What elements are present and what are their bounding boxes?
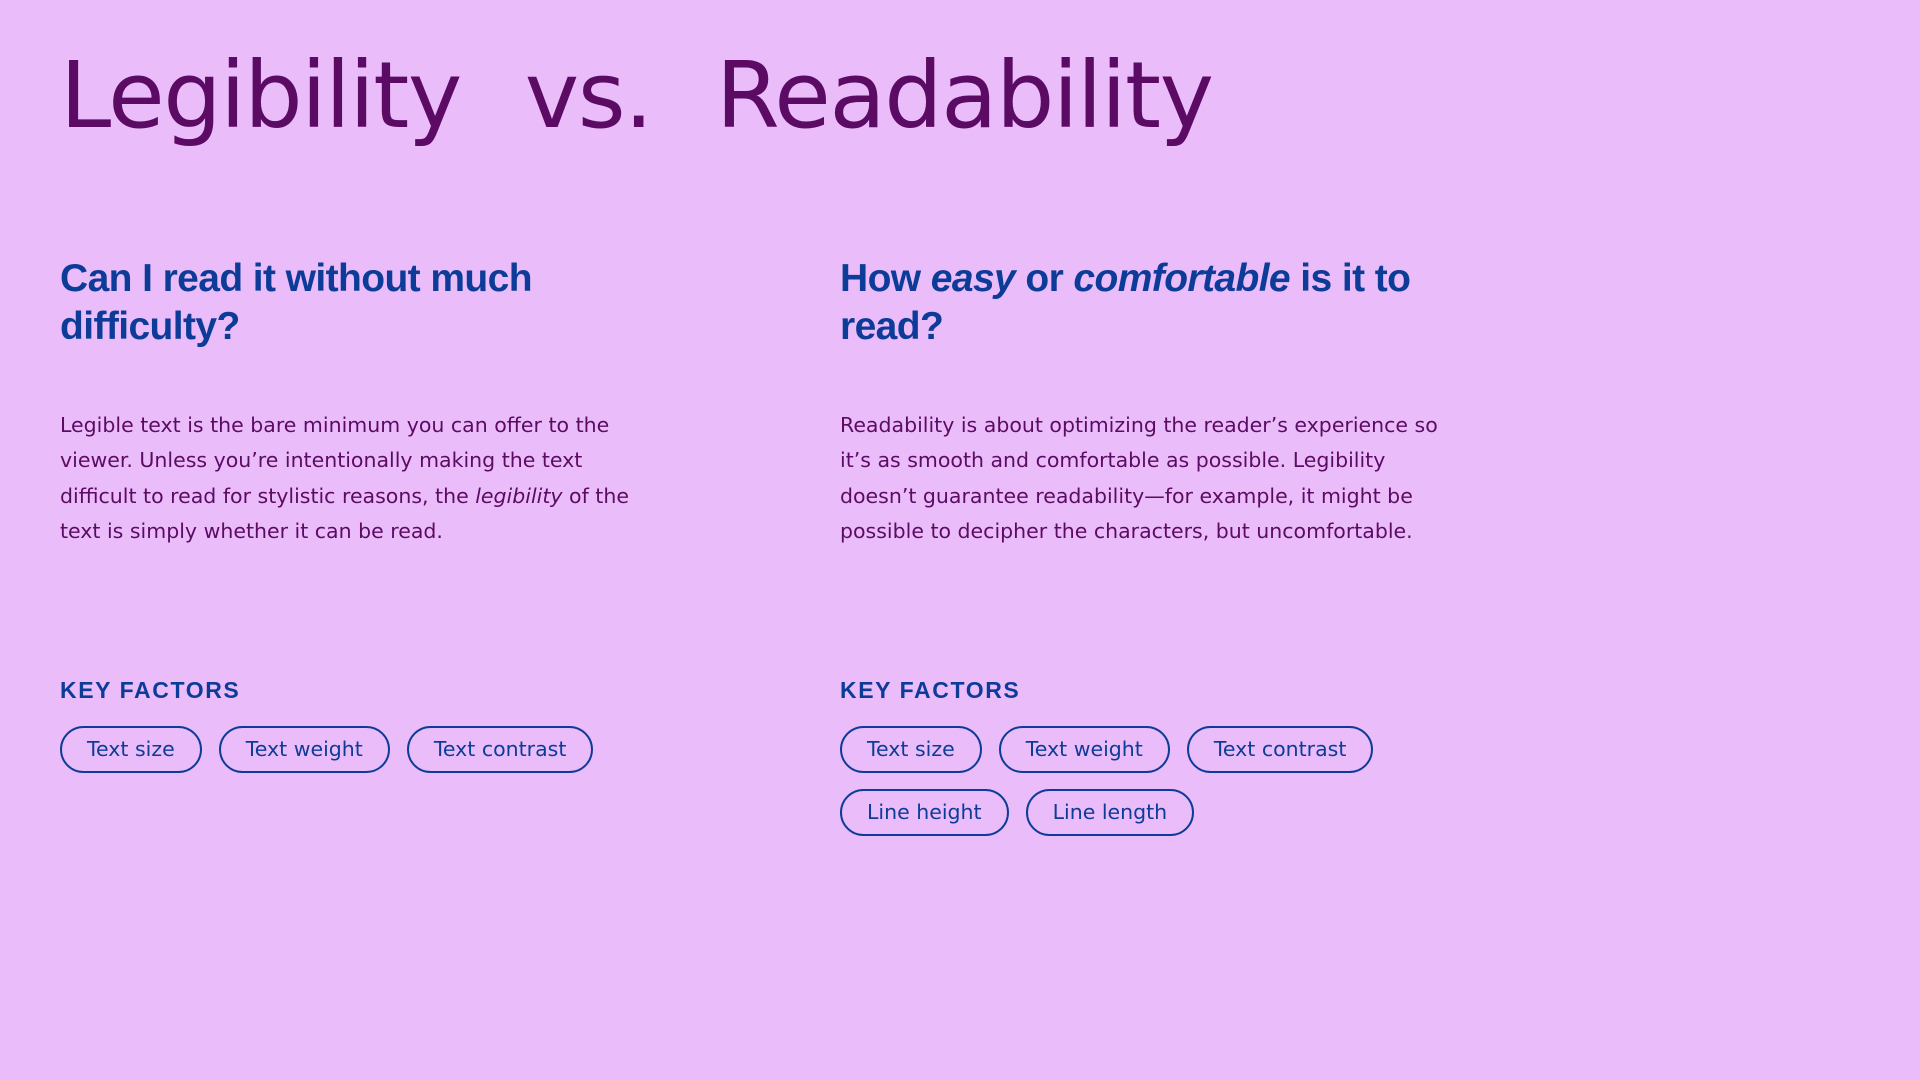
chip-line-length[interactable]: Line length: [1026, 789, 1195, 836]
title-right-term: Readability: [716, 46, 1213, 145]
chip-text-size[interactable]: Text size: [60, 726, 202, 773]
column-legibility: Can I read it without much difficulty? L…: [60, 255, 696, 836]
chip-text-weight[interactable]: Text weight: [219, 726, 390, 773]
readability-question-mid: or: [1015, 257, 1073, 300]
title-separator: vs.: [525, 46, 652, 145]
legibility-description-emphasis: legibility: [475, 484, 562, 508]
legibility-question-line1: Can I read it without: [60, 257, 420, 300]
readability-key-factors-list: Text size Text weight Text contrast Line…: [840, 726, 1440, 836]
column-readability: How easy or comfortable is it to read? R…: [840, 255, 1860, 836]
readability-description: Readability is about optimizing the read…: [840, 408, 1465, 549]
legibility-question: Can I read it without much difficulty?: [60, 255, 680, 350]
chip-line-height[interactable]: Line height: [840, 789, 1009, 836]
legibility-key-factors-list: Text size Text weight Text contrast: [60, 726, 680, 773]
chip-text-contrast[interactable]: Text contrast: [1187, 726, 1374, 773]
readability-question-lead: How: [840, 257, 931, 300]
chip-text-size[interactable]: Text size: [840, 726, 982, 773]
readability-question-emphasis-comfortable: comfortable: [1073, 257, 1290, 300]
chip-text-weight[interactable]: Text weight: [999, 726, 1170, 773]
chip-text-contrast[interactable]: Text contrast: [407, 726, 594, 773]
readability-question-emphasis-easy: easy: [931, 257, 1015, 300]
legibility-description: Legible text is the bare minimum you can…: [60, 408, 660, 549]
slide-root: Legibility vs. Readability Can I read it…: [0, 0, 1920, 1080]
comparison-columns: Can I read it without much difficulty? L…: [60, 255, 1860, 836]
readability-question: How easy or comfortable is it to read?: [840, 255, 1460, 350]
page-title: Legibility vs. Readability: [60, 46, 1213, 145]
readability-key-factors-label: KEY FACTORS: [840, 677, 1860, 704]
title-left-term: Legibility: [60, 46, 461, 145]
legibility-key-factors-label: KEY FACTORS: [60, 677, 696, 704]
